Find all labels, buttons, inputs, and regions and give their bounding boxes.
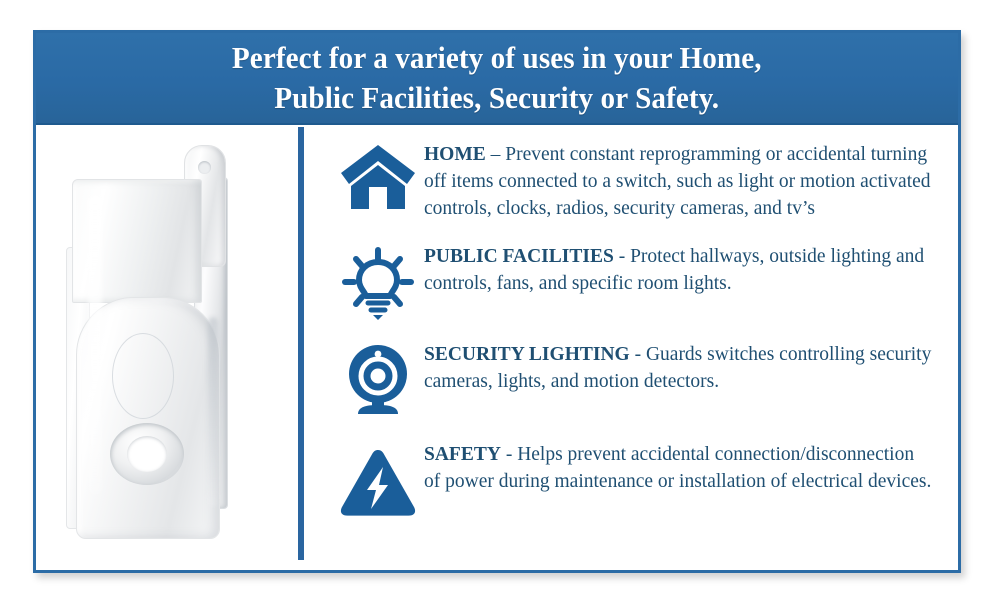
feature-item-home: HOME – Prevent constant reprogramming or… bbox=[332, 141, 934, 227]
feature-separator-security-lighting: - bbox=[630, 344, 646, 365]
switch-guard-photo bbox=[58, 137, 273, 552]
product-highlight-right bbox=[208, 317, 218, 507]
header-title-line-1: Perfect for a variety of uses in your Ho… bbox=[232, 38, 762, 78]
feature-item-safety: SAFETY - Helps prevent accidental connec… bbox=[332, 441, 934, 527]
infographic-card: Perfect for a variety of uses in your Ho… bbox=[33, 30, 961, 573]
feature-item-public-facilities: PUBLIC FACILITIES - Protect hallways, ou… bbox=[332, 243, 934, 321]
infographic-page: Perfect for a variety of uses in your Ho… bbox=[0, 0, 1000, 601]
feature-title-safety: SAFETY bbox=[424, 444, 501, 465]
card-body: HOME – Prevent constant reprogramming or… bbox=[36, 125, 958, 570]
feature-title-public-facilities: PUBLIC FACILITIES bbox=[424, 246, 614, 267]
feature-separator-home: – bbox=[486, 144, 506, 165]
feature-separator-safety: - bbox=[501, 444, 517, 465]
warning-bolt-icon bbox=[332, 441, 424, 527]
feature-text-security-lighting: SECURITY LIGHTING - Guards switches cont… bbox=[424, 341, 934, 395]
house-icon bbox=[332, 141, 424, 227]
feature-title-security-lighting: SECURITY LIGHTING bbox=[424, 344, 630, 365]
product-screw-bore bbox=[127, 436, 167, 472]
feature-title-home: HOME bbox=[424, 144, 486, 165]
header-title-line-2: Public Facilities, Security or Safety. bbox=[275, 78, 720, 118]
feature-separator-public-facilities: - bbox=[614, 246, 630, 267]
feature-text-home: HOME – Prevent constant reprogramming or… bbox=[424, 141, 934, 222]
product-emboss-oval bbox=[112, 333, 174, 419]
feature-text-public-facilities: PUBLIC FACILITIES - Protect hallways, ou… bbox=[424, 243, 934, 297]
feature-text-safety: SAFETY - Helps prevent accidental connec… bbox=[424, 441, 934, 495]
feature-item-security-lighting: SECURITY LIGHTING - Guards switches cont… bbox=[332, 341, 934, 419]
product-image-pane bbox=[36, 125, 298, 570]
lightbulb-icon bbox=[332, 243, 424, 321]
webcam-icon bbox=[332, 341, 424, 419]
product-tab-hole bbox=[198, 161, 211, 174]
header-banner: Perfect for a variety of uses in your Ho… bbox=[36, 33, 958, 125]
feature-list: HOME – Prevent constant reprogramming or… bbox=[304, 125, 958, 570]
product-highlight-left bbox=[88, 195, 102, 495]
